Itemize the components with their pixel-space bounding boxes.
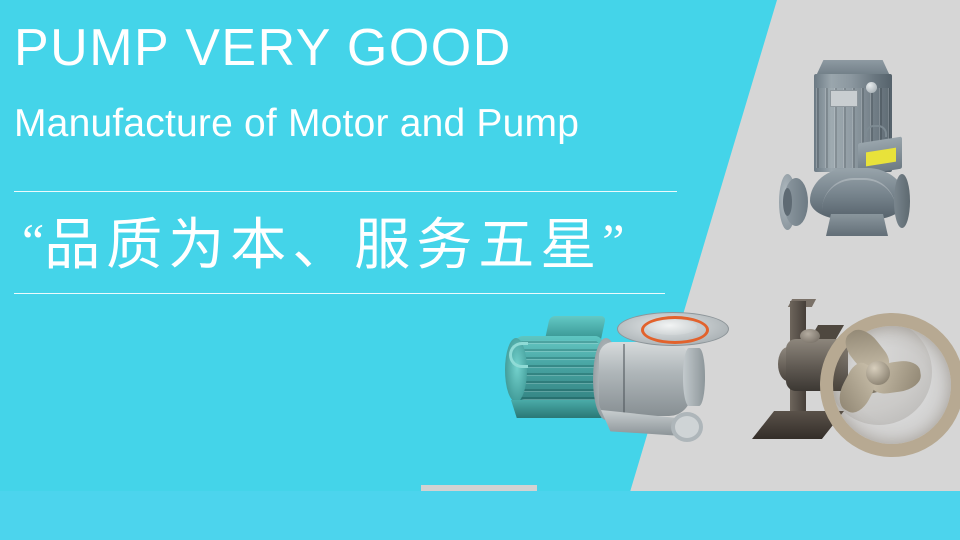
pump-nameplate — [830, 90, 858, 107]
pump-casing-seam — [623, 344, 625, 414]
mixer-motor-cap — [800, 329, 820, 343]
slogan-text: “品质为本、服务五星” — [22, 198, 624, 288]
page-subtitle: Manufacture of Motor and Pump — [14, 104, 579, 143]
motor-lifting-hook — [509, 342, 528, 368]
motor-cooling-fins — [519, 340, 599, 400]
pump-suction-gasket-ring — [641, 316, 709, 344]
motor-mounting-feet — [511, 400, 607, 418]
divider-top — [14, 191, 677, 192]
pump-outlet-flange — [894, 174, 910, 228]
close-quote-mark: ” — [602, 213, 624, 269]
open-quote-mark: “ — [22, 213, 44, 269]
background-bottom-band — [0, 491, 960, 540]
bottom-slider-tab[interactable] — [421, 485, 537, 491]
vertical-inline-pump-photo — [770, 42, 950, 262]
mixer-propeller-hub — [866, 361, 890, 385]
pump-inlet-bore — [783, 188, 792, 216]
promo-banner: PUMP VERY GOOD Manufacture of Motor and … — [0, 0, 960, 540]
pump-cable-gland — [865, 125, 887, 137]
pump-support-eye — [671, 412, 703, 442]
slogan-chinese: 品质为本、服务五星 — [44, 213, 602, 276]
horizontal-centrifugal-pump-photo — [495, 300, 745, 465]
page-title: PUMP VERY GOOD — [14, 22, 512, 74]
pump-fan-cover-icon — [866, 82, 877, 93]
submersible-mixer-photo — [748, 295, 948, 460]
pump-casing — [599, 342, 691, 416]
pump-discharge-flange — [683, 348, 705, 406]
divider-bottom — [14, 293, 665, 294]
pump-base-pedestal — [826, 214, 888, 236]
